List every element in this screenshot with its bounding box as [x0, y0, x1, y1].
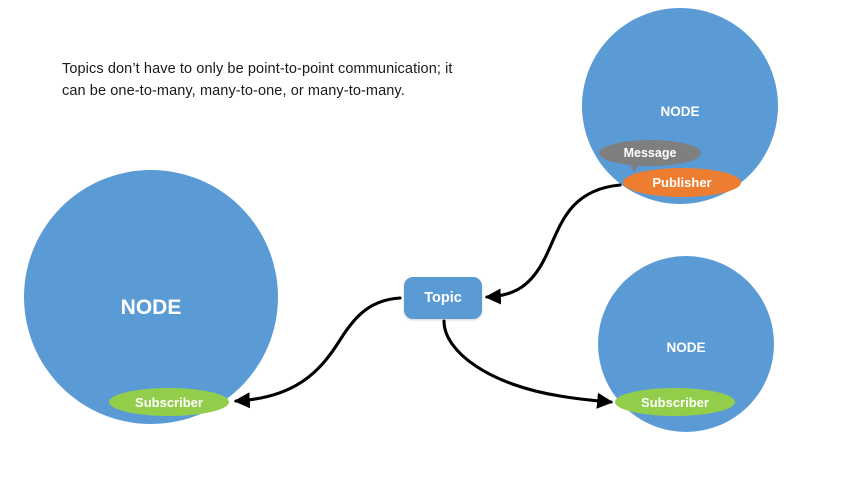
- edge-publisher-to-topic: [487, 185, 620, 297]
- edge-topic-to-bottom-right-subscriber: [444, 321, 611, 402]
- message-pill-top-right: Message: [599, 140, 701, 166]
- subscriber-pill-bottom-right: Subscriber: [615, 388, 735, 416]
- node-left-label: NODE: [24, 296, 278, 320]
- publisher-pill-top-right: Publisher: [623, 168, 741, 197]
- diagram-canvas: Topics don’t have to only be point-to-po…: [0, 0, 854, 480]
- node-top-right-label: NODE: [582, 104, 778, 119]
- node-bottom-right-label: NODE: [598, 340, 774, 355]
- caption-text: Topics don’t have to only be point-to-po…: [62, 58, 482, 103]
- subscriber-pill-left: Subscriber: [109, 388, 229, 416]
- topic-box[interactable]: Topic: [404, 277, 482, 319]
